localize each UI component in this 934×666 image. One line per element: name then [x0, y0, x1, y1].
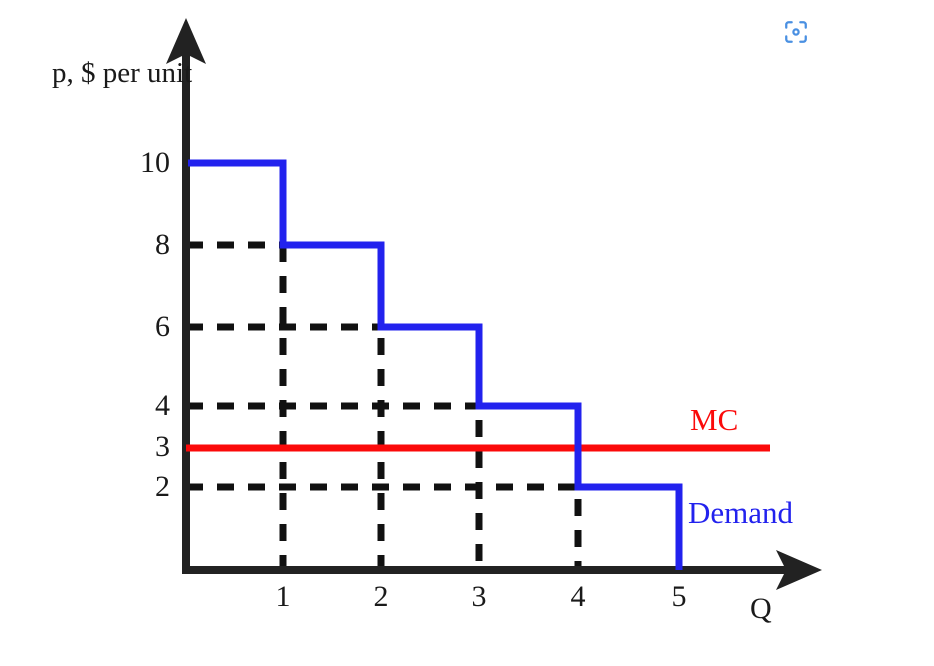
mc-series-label: MC — [690, 403, 738, 438]
y-tick-label-3: 3 — [110, 430, 170, 464]
demand-series-label: Demand — [688, 496, 793, 531]
lens-center-dot — [793, 29, 798, 34]
x-tick-label-2: 2 — [361, 580, 401, 614]
x-axis-title: Q — [750, 592, 772, 626]
scan-lens-icon[interactable] — [783, 19, 809, 45]
y-tick-label-6: 6 — [110, 310, 170, 344]
y-tick-label-4: 4 — [110, 389, 170, 423]
y-tick-label-8: 8 — [110, 228, 170, 262]
lens-corner-tl — [786, 22, 791, 27]
y-axis-title: p, $ per unit — [52, 57, 182, 89]
x-tick-label-3: 3 — [459, 580, 499, 614]
scan-lens-icon-glyph — [783, 19, 809, 45]
lens-corner-bl — [786, 36, 791, 41]
x-tick-label-5: 5 — [659, 580, 699, 614]
lens-corner-br — [800, 36, 805, 41]
x-tick-label-4: 4 — [558, 580, 598, 614]
y-tick-label-10: 10 — [110, 146, 170, 180]
y-tick-label-2: 2 — [110, 470, 170, 504]
lens-corner-tr — [800, 22, 805, 27]
x-tick-label-1: 1 — [263, 580, 303, 614]
